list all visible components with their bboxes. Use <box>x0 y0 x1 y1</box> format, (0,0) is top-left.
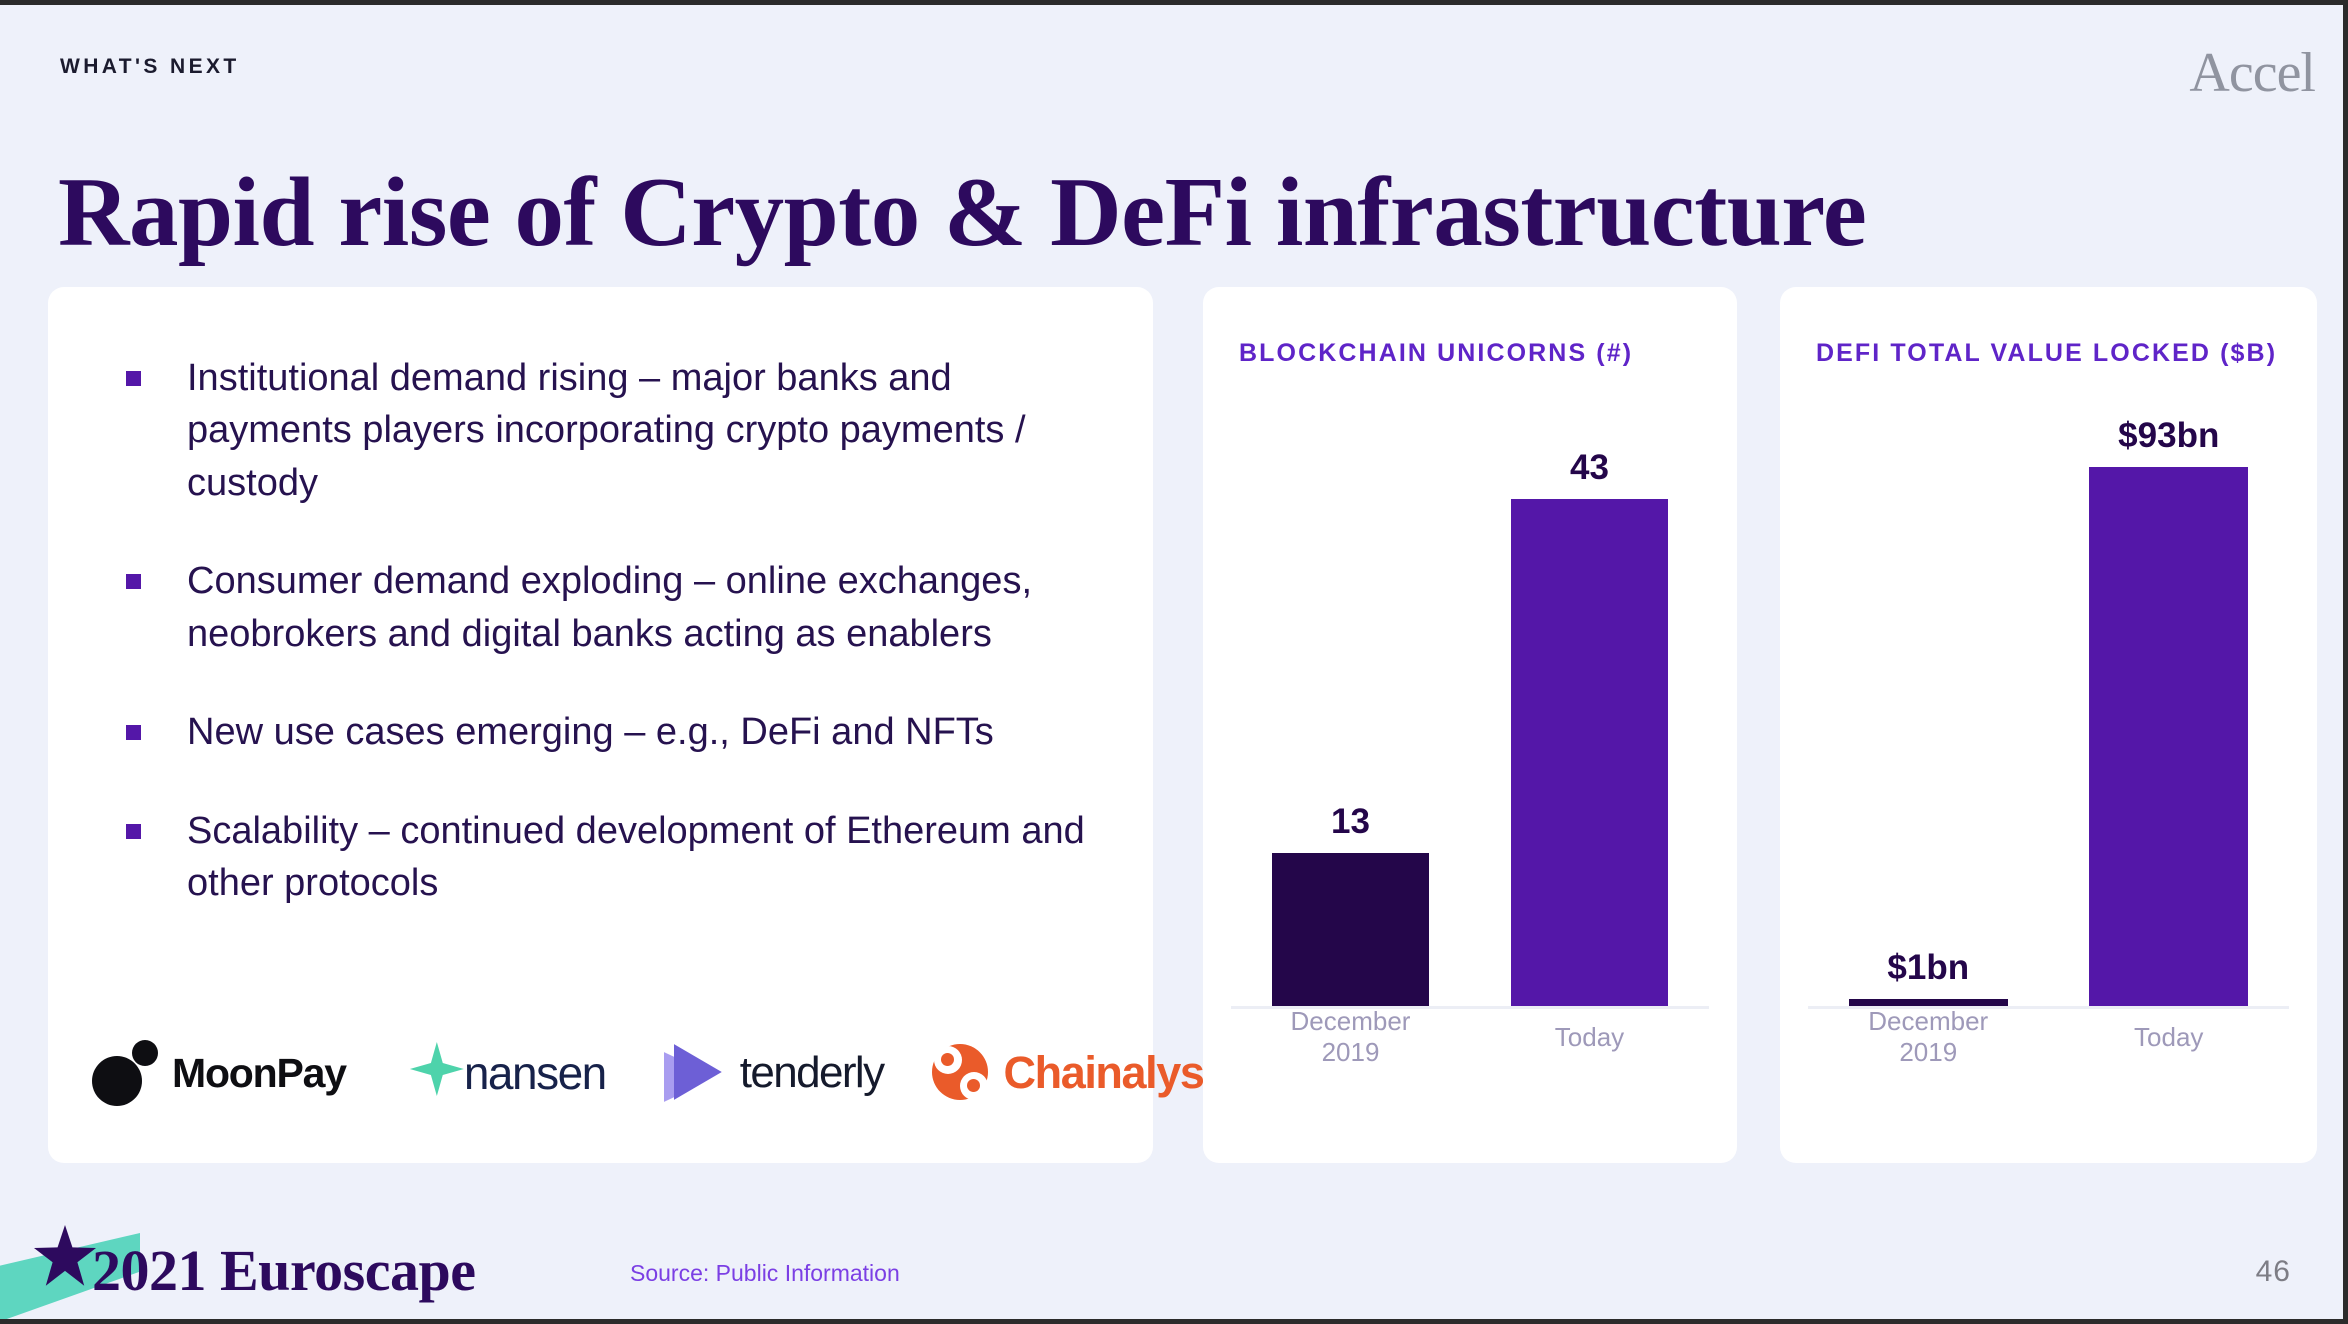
bullets-card: Institutional demand rising – major bank… <box>48 287 1153 1163</box>
x-tick-label: Today <box>1511 1022 1669 1053</box>
chart-card-defi-tvl: DEFI TOTAL VALUE LOCKED ($B) $1bn $93bn … <box>1780 287 2317 1163</box>
bar-chart-blockchain-unicorns: 13 43 December 2019 Today <box>1231 407 1709 1063</box>
bullet-text: Consumer demand exploding – online excha… <box>187 555 1126 660</box>
source-note: Source: Public Information <box>630 1260 900 1287</box>
logo-chainalysis: Chainalysis <box>930 1042 1239 1104</box>
moonpay-wordmark: MoonPay <box>172 1050 346 1097</box>
logo-moonpay: MoonPay <box>92 1040 346 1106</box>
page-title: Rapid rise of Crypto & DeFi infrastructu… <box>58 161 1866 265</box>
eyebrow-label: WHAT'S NEXT <box>60 55 240 79</box>
bar-data-label: 13 <box>1331 802 1370 842</box>
bar-rect <box>1511 499 1669 1006</box>
bar-area: $1bn $93bn <box>1808 407 2289 1006</box>
bar-rect <box>1849 999 2008 1006</box>
bar-rect <box>1272 853 1430 1006</box>
bullet-list: Institutional demand rising – major bank… <box>126 352 1126 956</box>
accel-logo: Accel <box>2189 41 2315 105</box>
x-axis-labels: December 2019 Today <box>1231 1011 1709 1063</box>
tenderly-play-triangle-icon <box>664 1042 726 1104</box>
bar-data-label: 43 <box>1570 448 1609 488</box>
chart-card-blockchain-unicorns: BLOCKCHAIN UNICORNS (#) 13 43 December 2… <box>1203 287 1737 1163</box>
x-axis-labels: December 2019 Today <box>1808 1011 2289 1063</box>
bullet-text: New use cases emerging – e.g., DeFi and … <box>187 706 994 758</box>
bar-data-label: $93bn <box>2118 416 2219 456</box>
square-bullet-icon <box>126 371 141 386</box>
list-item: Consumer demand exploding – online excha… <box>126 555 1126 660</box>
x-tick-label: December 2019 <box>1849 1006 2008 1068</box>
logo-tenderly: tenderly <box>664 1042 884 1104</box>
bar-data-label: $1bn <box>1887 948 1969 988</box>
portfolio-logo-strip: MoonPay nansen tenderly <box>68 1025 1138 1121</box>
list-item: Institutional demand rising – major bank… <box>126 352 1126 509</box>
bar-chart-defi-tvl: $1bn $93bn December 2019 Today <box>1808 407 2289 1063</box>
bar-column-today: $93bn <box>2089 407 2248 1006</box>
deck-name: 2021 Euroscape <box>92 1237 475 1304</box>
page-number: 46 <box>2256 1255 2291 1289</box>
chart-title: DEFI TOTAL VALUE LOCKED ($B) <box>1816 339 2277 368</box>
bar-area: 13 43 <box>1231 407 1709 1006</box>
square-bullet-icon <box>126 574 141 589</box>
square-bullet-icon <box>126 824 141 839</box>
bar-column-december-2019: 13 <box>1272 407 1430 1006</box>
bar-column-december-2019: $1bn <box>1849 407 2008 1006</box>
nansen-four-point-star-icon <box>408 1042 466 1104</box>
bullet-text: Scalability – continued development of E… <box>187 805 1126 910</box>
logo-nansen: nansen <box>408 1042 606 1104</box>
chart-title: BLOCKCHAIN UNICORNS (#) <box>1239 339 1633 368</box>
tenderly-wordmark: tenderly <box>740 1048 884 1098</box>
x-tick-label: December 2019 <box>1272 1006 1430 1068</box>
list-item: New use cases emerging – e.g., DeFi and … <box>126 706 1126 758</box>
bar-rect <box>2089 467 2248 1006</box>
chainalysis-pinwheel-icon <box>930 1042 992 1104</box>
bullet-text: Institutional demand rising – major bank… <box>187 352 1126 509</box>
bar-column-today: 43 <box>1511 407 1669 1006</box>
nansen-wordmark: nansen <box>464 1046 606 1100</box>
slide: WHAT'S NEXT Rapid rise of Crypto & DeFi … <box>0 0 2348 1324</box>
square-bullet-icon <box>126 725 141 740</box>
list-item: Scalability – continued development of E… <box>126 805 1126 910</box>
x-tick-label: Today <box>2089 1022 2248 1053</box>
moonpay-circles-icon <box>92 1040 164 1106</box>
